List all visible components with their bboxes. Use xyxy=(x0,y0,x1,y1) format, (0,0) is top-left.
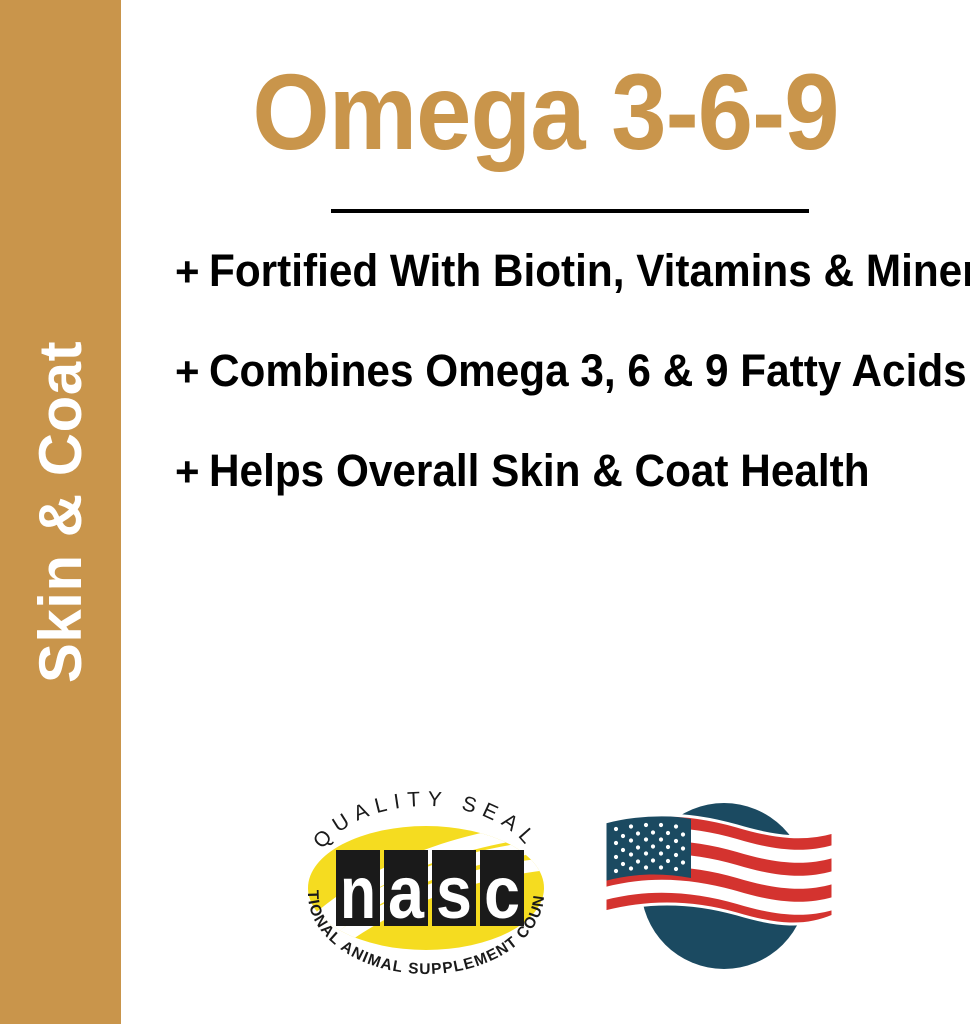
benefit-text: Helps Overall Skin & Coat Health xyxy=(209,448,870,493)
title-divider-rule xyxy=(331,209,809,213)
svg-text:n: n xyxy=(340,851,376,934)
plus-icon: + xyxy=(175,351,200,393)
flag-canton xyxy=(605,816,691,881)
benefit-text: Fortified With Biotin, Vitamins & Minera… xyxy=(209,248,970,293)
category-label-skin-and-coat: Skin & Coat xyxy=(31,341,91,683)
svg-text:c: c xyxy=(484,851,520,934)
plus-icon: + xyxy=(175,451,200,493)
benefit-item: + Helps Overall Skin & Coat Health xyxy=(175,448,970,548)
benefits-list: + Fortified With Biotin, Vitamins & Mine… xyxy=(175,248,970,548)
certification-badges: n a s c QUALITY SEAL NATIONAL ANIMAL SUP… xyxy=(121,780,970,1000)
category-sidebar: Skin & Coat xyxy=(0,0,121,1024)
plus-icon: + xyxy=(175,251,200,293)
svg-text:s: s xyxy=(436,851,472,934)
label-content: Omega 3-6-9 + Fortified With Biotin, Vit… xyxy=(121,0,970,1024)
benefit-item: + Combines Omega 3, 6 & 9 Fatty Acids xyxy=(175,348,970,448)
benefit-item: + Fortified With Biotin, Vitamins & Mine… xyxy=(175,248,970,348)
product-label-panel: Skin & Coat Omega 3-6-9 + Fortified With… xyxy=(0,0,970,1024)
nasc-quality-seal-logo: n a s c QUALITY SEAL NATIONAL ANIMAL SUP… xyxy=(291,788,561,983)
american-flag-badge xyxy=(591,788,846,983)
svg-text:a: a xyxy=(388,851,425,934)
product-title: Omega 3-6-9 xyxy=(155,58,936,166)
benefit-text: Combines Omega 3, 6 & 9 Fatty Acids xyxy=(209,348,967,393)
